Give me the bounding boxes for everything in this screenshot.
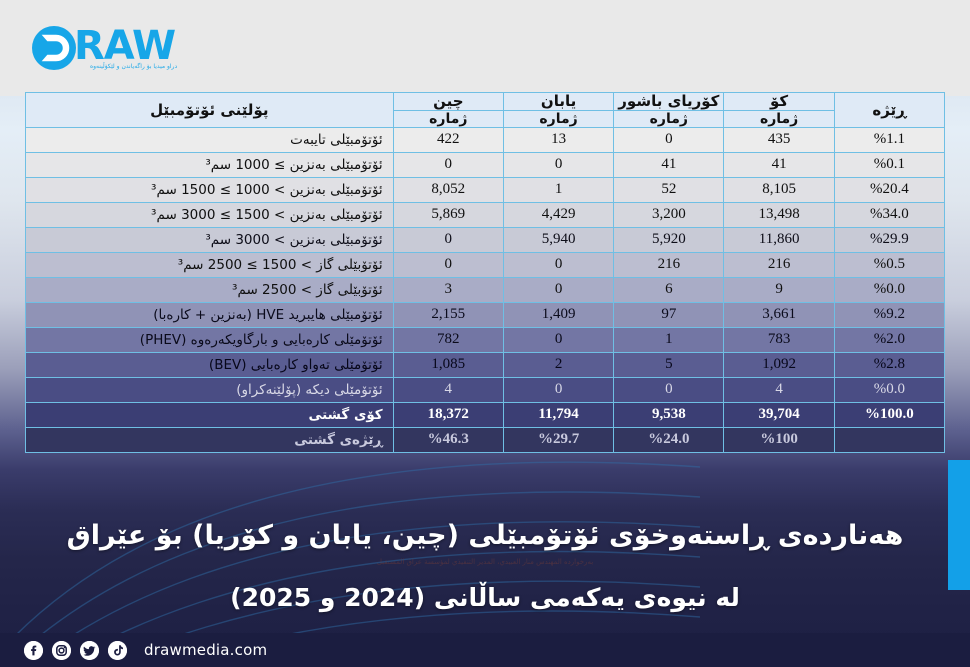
data-table-wrapper: ڕێژە کۆ کۆریای باشور یابان چین پۆلێنی ئۆ… (25, 92, 945, 453)
cell-rate: %0.1 (834, 152, 944, 177)
cell-total: 4 (724, 377, 834, 402)
cell-korea: 52 (614, 177, 724, 202)
cell-rate: %0.0 (834, 277, 944, 302)
table-row: %0.5 216 216 0 0 ئۆتۆبێلی گاز > 1500 ≥ 2… (26, 252, 945, 277)
cell-total: 8,105 (724, 177, 834, 202)
instagram-icon[interactable] (52, 641, 71, 660)
cell-rate: %100.0 (834, 402, 944, 427)
header-category: پۆلێنی ئۆتۆمبێل (26, 93, 394, 128)
cell-china: 0 (393, 152, 503, 177)
cell-total: 13,498 (724, 202, 834, 227)
logo-subtitle: دراو میدیا بۆ راگەیاندن و لێکۆڵینەوە (90, 63, 177, 70)
cell-category: ڕێژەی گشتی (26, 427, 394, 452)
cell-total: 3,661 (724, 302, 834, 327)
infographic-canvas: RAW دراو میدیا بۆ راگەیاندن و لێکۆڵینەوە… (0, 0, 970, 667)
cell-china: %46.3 (393, 427, 503, 452)
cell-category: ئۆتۆمێلی تەواو کارەبایی (BEV) (26, 352, 394, 377)
cell-japan: 11,794 (503, 402, 613, 427)
cell-korea: 6 (614, 277, 724, 302)
header-col-total: کۆ (724, 93, 834, 111)
cell-rate: %0.0 (834, 377, 944, 402)
cell-total: %100 (724, 427, 834, 452)
cell-category: ئۆتۆمبێلی بەنزین ≥ 1000 سم³ (26, 152, 394, 177)
table-row: %34.0 13,498 3,200 4,429 5,869 ئۆتۆمبێلی… (26, 202, 945, 227)
headline-line-2: لە نیوەی یەکەمی ساڵانی (2024 و 2025) (0, 578, 970, 618)
cell-china: 0 (393, 252, 503, 277)
cell-korea: 97 (614, 302, 724, 327)
credit-line: بەرخواردە المهندس منار العبيدي، المدير ا… (0, 558, 970, 566)
cell-total: 216 (724, 252, 834, 277)
cell-china: 1,085 (393, 352, 503, 377)
cell-japan: 0 (503, 152, 613, 177)
cell-category: ئۆتۆبێلی گاز > 1500 ≥ 2500 سم³ (26, 252, 394, 277)
cell-china: 782 (393, 327, 503, 352)
cell-category: ئۆتۆمبێلی هایبرید HVE (بەنزین + کارەبا) (26, 302, 394, 327)
table-row: %29.9 11,860 5,920 5,940 0 ئۆتۆمبێلی بەن… (26, 227, 945, 252)
cell-china: 422 (393, 127, 503, 152)
table-row: %0.0 4 0 0 4 ئۆتۆمێلی دیکە (پۆلێنەکراو) (26, 377, 945, 402)
cell-japan: 1 (503, 177, 613, 202)
cell-category: کۆی گشتی (26, 402, 394, 427)
cell-japan: 0 (503, 377, 613, 402)
cell-category: ئۆتۆمبێلی تایبەت (26, 127, 394, 152)
cell-japan: 0 (503, 252, 613, 277)
cell-total: 11,860 (724, 227, 834, 252)
cell-korea: 5 (614, 352, 724, 377)
twitter-icon[interactable] (80, 641, 99, 660)
table-row: %1.1 435 0 13 422 ئۆتۆمبێلی تایبەت (26, 127, 945, 152)
cell-total: 435 (724, 127, 834, 152)
tiktok-icon[interactable] (108, 641, 127, 660)
cell-japan: 1,409 (503, 302, 613, 327)
cell-total: 783 (724, 327, 834, 352)
headline-line-1: هەناردەی ڕاستەوخۆی ئۆتۆمبێلی (چین، یابان… (0, 516, 970, 556)
cell-korea: 0 (614, 127, 724, 152)
header-col-china: چین (393, 93, 503, 111)
table-header-row-1: ڕێژە کۆ کۆریای باشور یابان چین پۆلێنی ئۆ… (26, 93, 945, 111)
table-row: %2.8 1,092 5 2 1,085 ئۆتۆمێلی تەواو کارە… (26, 352, 945, 377)
cell-japan: %29.7 (503, 427, 613, 452)
cell-japan: 2 (503, 352, 613, 377)
cell-china: 18,372 (393, 402, 503, 427)
cell-korea: 1 (614, 327, 724, 352)
cell-rate: %20.4 (834, 177, 944, 202)
draw-media-logo: RAW دراو میدیا بۆ راگەیاندن و لێکۆڵینەوە (30, 16, 190, 78)
cell-japan: 13 (503, 127, 613, 152)
headline: هەناردەی ڕاستەوخۆی ئۆتۆمبێلی (چین، یابان… (0, 516, 970, 618)
cell-japan: 5,940 (503, 227, 613, 252)
cell-category: ئۆتۆبێلی گاز > 2500 سم³ (26, 277, 394, 302)
cell-china: 5,869 (393, 202, 503, 227)
cell-rate: %1.1 (834, 127, 944, 152)
logo-wordmark: RAW (74, 26, 175, 66)
cell-china: 8,052 (393, 177, 503, 202)
cell-total: 9 (724, 277, 834, 302)
cell-category: ئۆتۆمبێلی بەنزین > 1000 ≥ 1500 سم³ (26, 177, 394, 202)
website-url[interactable]: drawmedia.com (144, 641, 267, 659)
cell-korea: %24.0 (614, 427, 724, 452)
cell-rate: %29.9 (834, 227, 944, 252)
cell-korea: 41 (614, 152, 724, 177)
cell-korea: 3,200 (614, 202, 724, 227)
cell-japan: 0 (503, 277, 613, 302)
header-rate: ڕێژە (834, 93, 944, 128)
cell-china: 3 (393, 277, 503, 302)
cell-korea: 9,538 (614, 402, 724, 427)
footer-bar: drawmedia.com (0, 633, 970, 667)
cell-china: 2,155 (393, 302, 503, 327)
table-head: ڕێژە کۆ کۆریای باشور یابان چین پۆلێنی ئۆ… (26, 93, 945, 128)
table-row: %20.4 8,105 52 1 8,052 ئۆتۆمبێلی بەنزین … (26, 177, 945, 202)
header-sub-china: ژماره (393, 110, 503, 127)
table-total-row: %100.0 39,704 9,538 11,794 18,372 کۆی گش… (26, 402, 945, 427)
cell-china: 4 (393, 377, 503, 402)
exports-table: ڕێژە کۆ کۆریای باشور یابان چین پۆلێنی ئۆ… (25, 92, 945, 453)
cell-category: ئۆتۆمبێلی بەنزین > 3000 سم³ (26, 227, 394, 252)
facebook-icon[interactable] (24, 641, 43, 660)
table-percent-row: %100 %24.0 %29.7 %46.3 ڕێژەی گشتی (26, 427, 945, 452)
table-row: %9.2 3,661 97 1,409 2,155 ئۆتۆمبێلی هایب… (26, 302, 945, 327)
cell-category: ئۆتۆمبێلی بەنزین > 1500 ≥ 3000 سم³ (26, 202, 394, 227)
cell-total: 39,704 (724, 402, 834, 427)
cell-korea: 5,920 (614, 227, 724, 252)
cell-rate: %2.8 (834, 352, 944, 377)
table-body: %1.1 435 0 13 422 ئۆتۆمبێلی تایبەت %0.1 … (26, 127, 945, 452)
cell-total: 41 (724, 152, 834, 177)
table-row: %0.0 9 6 0 3 ئۆتۆبێلی گاز > 2500 سم³ (26, 277, 945, 302)
cell-rate: %34.0 (834, 202, 944, 227)
cell-japan: 4,429 (503, 202, 613, 227)
cell-korea: 216 (614, 252, 724, 277)
cell-rate: %2.0 (834, 327, 944, 352)
header-col-japan: یابان (503, 93, 613, 111)
header-sub-japan: ژماره (503, 110, 613, 127)
header-sub-korea: ژماره (614, 110, 724, 127)
table-row: %0.1 41 41 0 0 ئۆتۆمبێلی بەنزین ≥ 1000 س… (26, 152, 945, 177)
cell-rate: %9.2 (834, 302, 944, 327)
cell-china: 0 (393, 227, 503, 252)
cell-korea: 0 (614, 377, 724, 402)
header-col-korea: کۆریای باشور (614, 93, 724, 111)
cell-total: 1,092 (724, 352, 834, 377)
cell-category: ئۆتۆمێلی دیکە (پۆلێنەکراو) (26, 377, 394, 402)
cell-japan: 0 (503, 327, 613, 352)
cell-category: ئۆتۆمێلی کارەبایی و بارگاویکەرەوە (PHEV) (26, 327, 394, 352)
cell-rate (834, 427, 944, 452)
cell-rate: %0.5 (834, 252, 944, 277)
table-row: %2.0 783 1 0 782 ئۆتۆمێلی کارەبایی و بار… (26, 327, 945, 352)
header-sub-total: ژماره (724, 110, 834, 127)
